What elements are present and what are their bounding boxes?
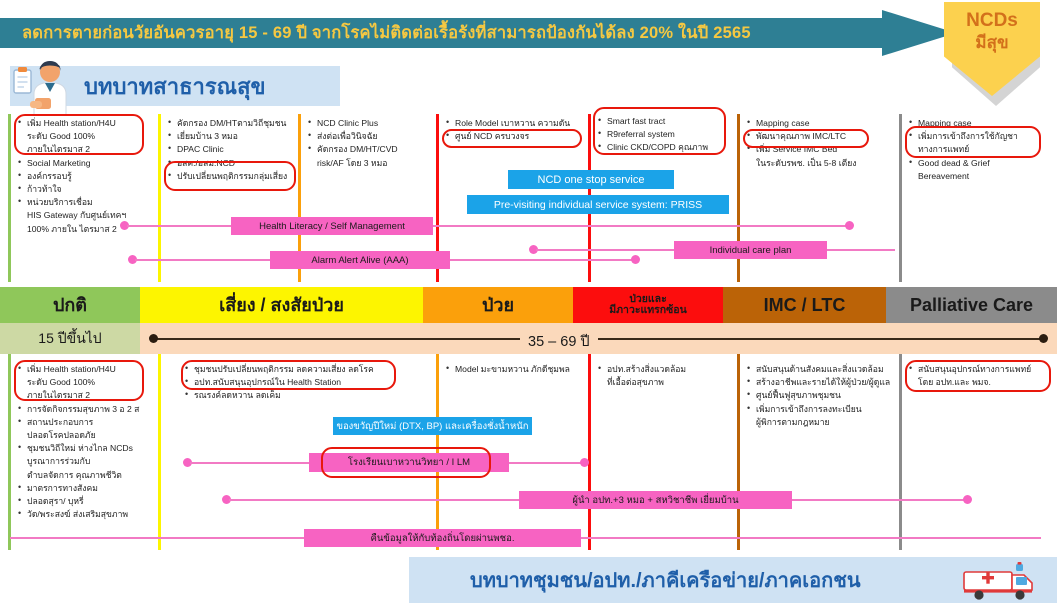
stage-normal[interactable]: ปกติ <box>0 287 140 323</box>
list-item: ในระดับรพช. เป็น 5-8 เตียง <box>747 157 897 169</box>
pink-connector-dot <box>580 458 589 467</box>
list-item: อปท.สนับสนุนอุปกรณ์ใน Health Station <box>185 376 435 388</box>
public-health-banner-label: บทบาทสาธารณสุข <box>84 68 334 104</box>
ncds-badge: NCDs มีสุข <box>944 2 1048 108</box>
list-item: อปท.สร้างสิ่งแวดล้อม <box>598 363 734 375</box>
pink-connector-line <box>433 225 848 227</box>
list-item: คัดกรอง DM/HT/CVD <box>308 143 432 155</box>
blue-bar-priss: Pre-visiting individual service system: … <box>467 195 729 214</box>
list-item: ปลอดโรคปลอดภัย <box>18 429 158 441</box>
community-column-imc-ltc: สนับสนุนด้านสังคมและสิ่งแวดล้อม สร้างอาช… <box>747 363 899 429</box>
doctor-icon <box>12 58 76 116</box>
column-separator-sick <box>436 354 439 550</box>
stage-palliative-care[interactable]: Palliative Care <box>886 287 1057 323</box>
pink-connector-line <box>135 259 271 261</box>
list-item: Smart fast tract <box>598 115 730 127</box>
pink-connector-line <box>536 249 678 251</box>
stage-complicated[interactable]: ป่วยและ มีภาวะแทรกซ้อน <box>573 287 723 323</box>
list-item: เยี่ยมบ้าน 3 หมอ <box>168 130 296 142</box>
list-item: มาตรการทางสังคม <box>18 482 158 494</box>
list-item: สนับสนุนด้านสังคมและสิ่งแวดล้อม <box>747 363 899 375</box>
pink-bar-health-literacy: Health Literacy / Self Management <box>231 217 433 235</box>
pink-bar-alarm-alert-alive: Alarm Alert Alive (AAA) <box>270 251 450 269</box>
list-item: ส่งต่อเพื่อวินิจฉัย <box>308 130 432 142</box>
community-content-panel: เพิ่ม Health station/H4U ระดับ Good 100%… <box>0 354 1057 557</box>
list-item: องค์กรรอบรู้ <box>18 170 158 182</box>
pink-connector-dot <box>845 221 854 230</box>
ambulance-icon <box>962 562 1036 600</box>
list-item: Social Marketing <box>18 157 158 169</box>
list-item: สถานประกอบการ <box>18 416 158 428</box>
list-item: risk/AF โดย 3 หมอ <box>308 157 432 169</box>
list-item: ศูนย์ฟื้นฟูสุขภาพชุมชน <box>747 389 899 401</box>
list-item: เพิ่มการเข้าถึงการใช้กัญชา <box>909 130 1051 142</box>
disease-stage-bar: ปกติ เสี่ยง / สงสัยป่วย ป่วย ป่วยและ มีภ… <box>0 287 1057 323</box>
pink-connector-line <box>792 499 965 501</box>
pink-connector-line <box>581 537 1041 539</box>
list-item: Role Model เบาหวาน ความดัน <box>446 117 586 129</box>
pink-bar-diabetes-school: โรงเรียนเบาหวานวิทยา / I LM <box>309 453 509 472</box>
stage-sick[interactable]: ป่วย <box>423 287 573 323</box>
age-axis-line <box>152 338 1044 340</box>
list-item: ปรับเปลี่ยนพฤติกรรมกลุ่มเสี่ยง <box>168 170 296 182</box>
list-item: โดย อปท.และ พมจ. <box>909 376 1049 388</box>
stage-imc-ltc[interactable]: IMC / LTC <box>723 287 886 323</box>
column-separator-imc-ltc <box>737 354 740 550</box>
list-item: สนับสนุนอุปกรณ์ทางการแพทย์ <box>909 363 1049 375</box>
age-axis-end-dot <box>1039 334 1048 343</box>
list-item: หน่วยบริการเชื่อม <box>18 196 158 208</box>
age-axis-start-dot <box>149 334 158 343</box>
list-item: เพิ่ม Health station/H4U <box>18 363 158 375</box>
pink-connector-dot <box>963 495 972 504</box>
column-separator-normal <box>8 354 11 550</box>
list-item: ชุมชนปรับเปลี่ยนพฤติกรรม ลดความเสี่ยง ลด… <box>185 363 435 375</box>
column-separator-risk <box>158 114 161 282</box>
list-item: บูรณาการร่วมกับ <box>18 455 158 467</box>
list-item: วัด/พระสงฆ์ ส่งเสริมสุขภาพ <box>18 508 158 520</box>
list-item: Model มะขามหวาน ภักดีชุมพล <box>446 363 586 375</box>
list-item: Mapping case <box>909 117 1051 129</box>
badge-title: NCDs <box>966 11 1018 30</box>
badge-shield-shape: NCDs มีสุข <box>944 2 1040 96</box>
stage-risk[interactable]: เสี่ยง / สงสัยป่วย <box>140 287 423 323</box>
community-column-complication: อปท.สร้างสิ่งแวดล้อม ที่เอื้อต่อสุขภาพ <box>598 363 734 389</box>
list-item: เพิ่ม Service IMC Bed <box>747 143 897 155</box>
column-separator-complicated <box>588 354 591 550</box>
list-item: ก้าวท้าใจ <box>18 183 158 195</box>
list-item: Mapping case <box>747 117 897 129</box>
list-item: การจัดกิจกรรมสุขภาพ 3 อ 2 ส <box>18 403 158 415</box>
list-item: เพิ่ม Health station/H4U <box>18 117 158 129</box>
pink-connector-line <box>190 462 310 464</box>
list-item: พัฒนาคุณภาพ IMC/LTC <box>747 130 897 142</box>
page-title: ลดการตายก่อนวัยอันควรอายุ 15 - 69 ปี จาก… <box>22 15 872 51</box>
column-separator-normal <box>8 114 11 282</box>
health-column-imc-ltc: Mapping case พัฒนาคุณภาพ IMC/LTC เพิ่ม S… <box>747 117 897 170</box>
list-item: NCD Clinic Plus <box>308 117 432 129</box>
blue-bar-new-year-gift: ของขวัญปีใหม่ (DTX, BP) และเครื่องชั่งน้… <box>333 417 532 435</box>
list-item: ผู้พิการตามกฎหมาย <box>747 416 899 428</box>
column-separator-palliative <box>899 114 902 282</box>
community-column-palliative: สนับสนุนอุปกรณ์ทางการแพทย์ โดย อปท.และ พ… <box>909 363 1049 389</box>
pink-bar-leader-home-visit: ผู้นำ อปท.+3 หมอ + สหวิชาชีพ เยี่ยมบ้าน <box>519 491 792 509</box>
pink-connector-line <box>10 537 305 539</box>
health-column-risk: คัดกรอง DM/HTตามวิถีชุมชน เยี่ยมบ้าน 3 ห… <box>168 117 296 183</box>
health-column-rolemodel: Role Model เบาหวาน ความดัน ศูนย์ NCD ครบ… <box>446 117 586 143</box>
list-item: สร้างอาชีพและรายได้ให้ผู้ป่วย/ผู้ดูแล <box>747 376 899 388</box>
list-item: ชุมชนวิถีใหม่ ห่างไกล NCDs <box>18 442 158 454</box>
pink-connector-line <box>229 499 520 501</box>
health-column-complication: Smart fast tract R9referral system Clini… <box>598 115 730 155</box>
age-label-15-plus: 15 ปีขึ้นไป <box>0 323 140 354</box>
list-item: ภายในไตรมาส 2 <box>18 389 158 401</box>
pink-connector-dot <box>631 255 640 264</box>
community-column-risk: ชุมชนปรับเปลี่ยนพฤติกรรม ลดความเสี่ยง ลด… <box>185 363 435 403</box>
list-item: Good dead & Grief <box>909 157 1051 169</box>
column-separator-palliative <box>899 354 902 550</box>
list-item: ตำบลจัดการ คุณภาพชีวิต <box>18 469 158 481</box>
list-item: ภายในไตรมาส 2 <box>18 143 158 155</box>
health-column-palliative: Mapping case เพิ่มการเข้าถึงการใช้กัญชา … <box>909 117 1051 183</box>
pink-connector-line <box>450 259 634 261</box>
list-item: DPAC Clinic <box>168 143 296 155</box>
list-item: ศูนย์ NCD ครบวงจร <box>446 130 586 142</box>
footer-banner-label: บทบาทชุมชน/อปท./ภาคีเครือข่าย/ภาคเอกชน <box>470 560 950 600</box>
age-label-35-69: 35 – 69 ปี <box>520 330 598 353</box>
pink-connector-line <box>509 462 583 464</box>
list-item: R9referral system <box>598 128 730 140</box>
health-column-sick: NCD Clinic Plus ส่งต่อเพื่อวินิจฉัย คัดก… <box>308 117 432 170</box>
pink-connector-line <box>827 249 895 251</box>
list-item: Bereavement <box>909 170 1051 182</box>
pink-connector-line <box>127 225 232 227</box>
list-item: Clinic CKD/COPD คุณภาพ <box>598 141 730 153</box>
list-item: ที่เอื้อต่อสุขภาพ <box>598 376 734 388</box>
community-column-normal: เพิ่ม Health station/H4U ระดับ Good 100%… <box>18 363 158 521</box>
list-item: HIS Gateway กับศูนย์เทคฯ <box>18 209 158 221</box>
list-item: รณรงค์ลดหวาน ลดเค็ม <box>185 389 435 401</box>
health-column-normal: เพิ่ม Health station/H4U ระดับ Good 100%… <box>18 117 158 236</box>
list-item: ทางการแพทย์ <box>909 143 1051 155</box>
list-item: ปลอดสุรา/ บุหรี่ <box>18 495 158 507</box>
blue-bar-ncd-one-stop: NCD one stop service <box>508 170 674 189</box>
list-item: คัดกรอง DM/HTตามวิถีชุมชน <box>168 117 296 129</box>
pink-bar-return-data: คืนข้อมูลให้กับท้องถิ่นโดยผ่านพชอ. <box>304 529 581 547</box>
pink-bar-individual-care-plan: Individual care plan <box>674 241 827 259</box>
column-separator-risk <box>158 354 161 550</box>
public-health-content-panel: เพิ่ม Health station/H4U ระดับ Good 100%… <box>0 110 1057 285</box>
community-column-sick: Model มะขามหวาน ภักดีชุมพล <box>446 363 586 376</box>
list-item: อสค./อสม.NCD <box>168 157 296 169</box>
list-item: เพิ่มการเข้าถึงการลงทะเบียน <box>747 403 899 415</box>
infographic-root: ลดการตายก่อนวัยอันควรอายุ 15 - 69 ปี จาก… <box>0 0 1057 603</box>
badge-subtitle: มีสุข <box>975 34 1008 51</box>
list-item: ระดับ Good 100% <box>18 130 158 142</box>
list-item: ระดับ Good 100% <box>18 376 158 388</box>
